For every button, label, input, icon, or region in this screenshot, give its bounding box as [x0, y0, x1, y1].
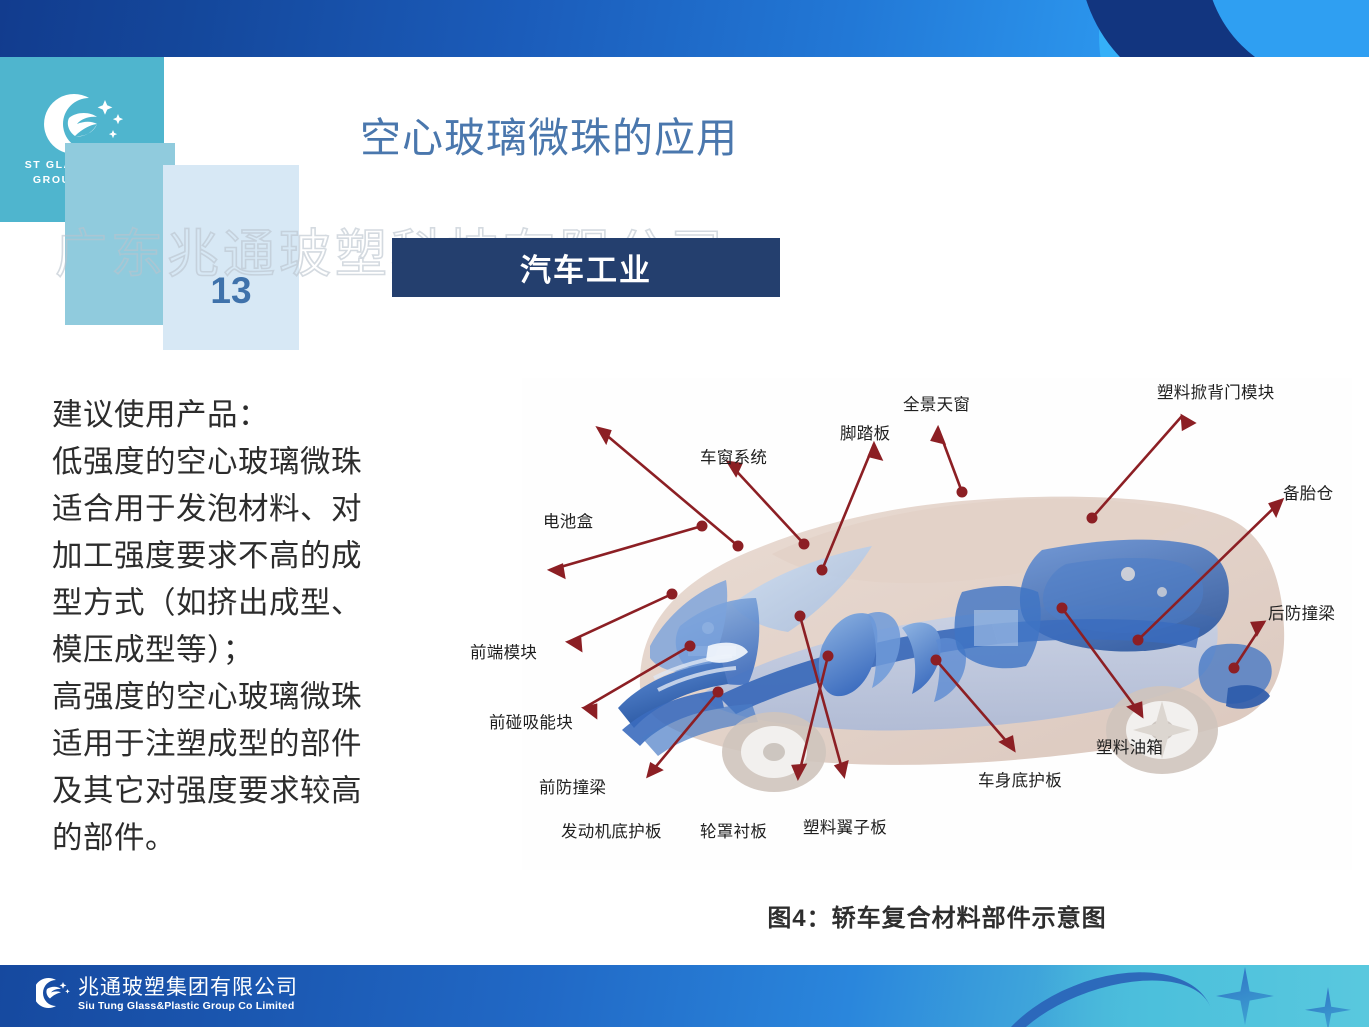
body-text-line: 低强度的空心玻璃微珠: [52, 439, 482, 486]
figure-label-0: 车窗系统: [700, 444, 767, 468]
figure-label-12: 塑料翼子板: [803, 814, 887, 838]
footer-company-cn: 兆通玻塑集团有限公司: [78, 977, 298, 998]
figure-label-7: 前端模块: [470, 639, 537, 663]
body-text-line: 型方式（如挤出成型、: [52, 580, 482, 627]
page-number: 13: [163, 270, 299, 312]
deco-rect-back: [65, 143, 175, 325]
figure-car-composite-parts: [522, 378, 1352, 870]
figure-label-10: 发动机底护板: [561, 818, 662, 842]
footer-brand: 兆通玻塑集团有限公司 Siu Tung Glass&Plastic Group …: [36, 977, 298, 1012]
body-text-line: 适合用于发泡材料、对: [52, 486, 482, 533]
body-text-line: 适用于注塑成型的部件: [52, 721, 482, 768]
body-text-line: 建议使用产品：: [52, 392, 482, 439]
footer-company-en: Siu Tung Glass&Plastic Group Co Limited: [78, 1001, 298, 1012]
figure-label-14: 塑料油箱: [1096, 734, 1163, 758]
deco-rect-front: [163, 165, 299, 350]
car-cutaway-illustration: [522, 378, 1352, 870]
figure-label-2: 全景天窗: [903, 391, 970, 415]
figure-label-9: 前防撞梁: [539, 774, 606, 798]
bottom-decorative-bar: 兆通玻塑集团有限公司 Siu Tung Glass&Plastic Group …: [0, 965, 1369, 1027]
figure-label-4: 备胎仓: [1283, 480, 1333, 504]
top-decorative-bar: [0, 0, 1369, 57]
figure-label-6: 电池盒: [543, 508, 593, 532]
body-text-line: 模压成型等）；: [52, 627, 482, 674]
section-chip-label: 汽车工业: [520, 245, 652, 290]
figure-label-1: 脚踏板: [840, 420, 890, 444]
section-chip: 汽车工业: [392, 238, 780, 297]
body-text-line: 及其它对强度要求较高: [52, 768, 482, 815]
page-title: 空心玻璃微珠的应用: [360, 104, 738, 164]
figure-label-5: 后防撞梁: [1268, 600, 1335, 624]
figure-label-3: 塑料掀背门模块: [1157, 379, 1275, 403]
figure-label-8: 前碰吸能块: [489, 709, 573, 733]
figure-caption: 图4：轿车复合材料部件示意图: [522, 898, 1352, 933]
body-text-line: 高强度的空心玻璃微珠: [52, 674, 482, 721]
body-text-line: 的部件。: [52, 815, 482, 862]
footer-logo-icon: [36, 977, 70, 1011]
body-text: 建议使用产品：低强度的空心玻璃微珠适合用于发泡材料、对加工强度要求不高的成型方式…: [52, 392, 482, 862]
figure-label-13: 车身底护板: [978, 767, 1062, 791]
body-text-line: 加工强度要求不高的成: [52, 533, 482, 580]
figure-label-11: 轮罩衬板: [700, 818, 767, 842]
